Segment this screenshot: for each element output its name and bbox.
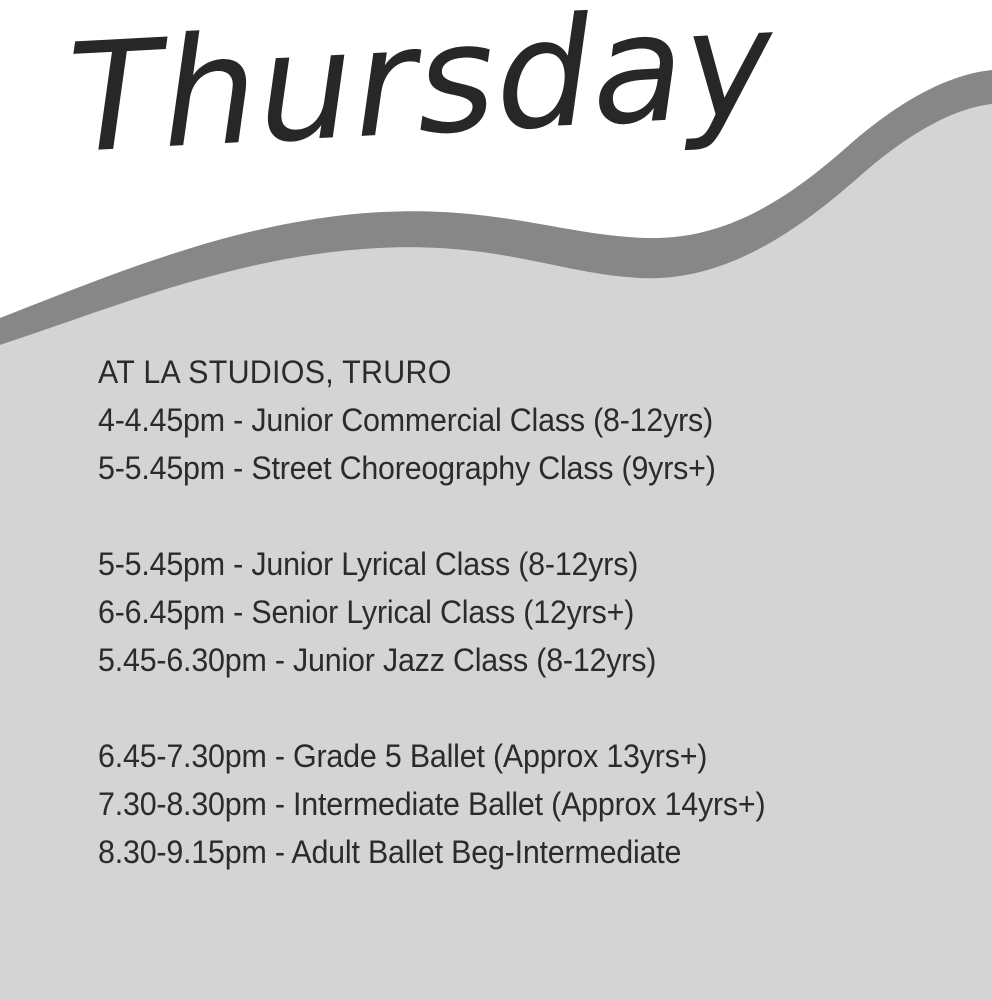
class-line: 8.30-9.15pm - Adult Ballet Beg-Intermedi… <box>98 828 925 876</box>
thursday-schedule-poster: Thursday AT LA STUDIOS, TRURO 4-4.45pm -… <box>0 0 992 1000</box>
class-line: 5-5.45pm - Street Choreography Class (9y… <box>98 444 925 492</box>
schedule-list: AT LA STUDIOS, TRURO 4-4.45pm - Junior C… <box>98 348 968 876</box>
class-line: 6-6.45pm - Senior Lyrical Class (12yrs+) <box>98 588 925 636</box>
group-separator <box>98 492 968 540</box>
class-line: 6.45-7.30pm - Grade 5 Ballet (Approx 13y… <box>98 732 925 780</box>
group-separator <box>98 684 968 732</box>
class-line: 5.45-6.30pm - Junior Jazz Class (8-12yrs… <box>98 636 925 684</box>
venue-heading: AT LA STUDIOS, TRURO <box>98 348 925 396</box>
class-line: 7.30-8.30pm - Intermediate Ballet (Appro… <box>98 780 925 828</box>
class-line: 4-4.45pm - Junior Commercial Class (8-12… <box>98 396 925 444</box>
class-line: 5-5.45pm - Junior Lyrical Class (8-12yrs… <box>98 540 925 588</box>
